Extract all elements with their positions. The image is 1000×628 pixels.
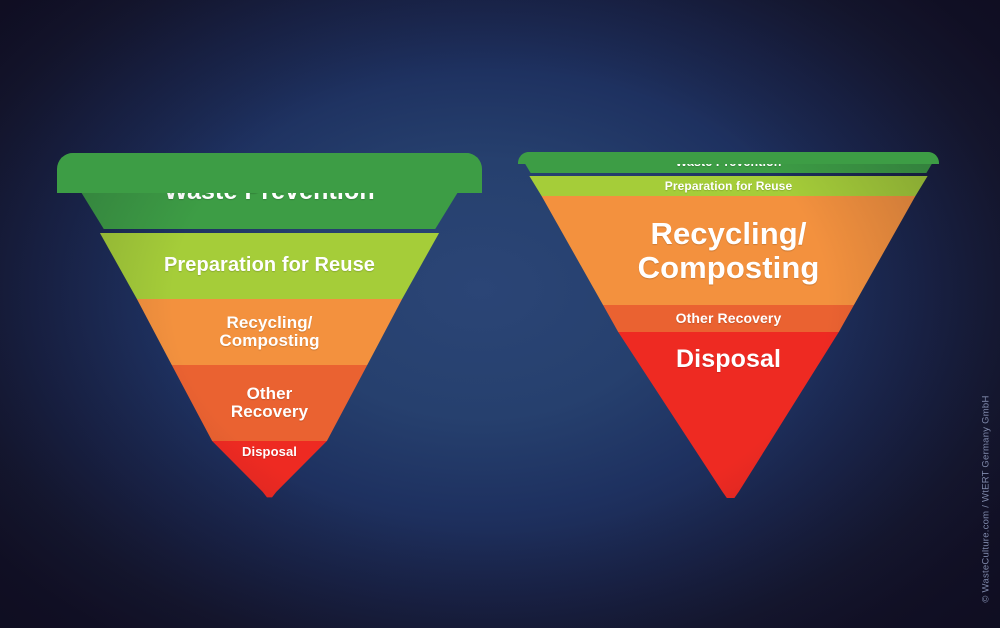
band-label-disposal: Disposal <box>242 445 297 459</box>
band-other-recovery[interactable]: Other Recovery <box>57 365 482 441</box>
diagram-canvas: Waste Prevention Preparation for Reuse R… <box>0 0 1000 628</box>
band-recycling-composting[interactable]: Recycling/ Composting <box>57 299 482 365</box>
band-preparation-for-reuse[interactable]: Preparation for Reuse <box>518 176 939 196</box>
band-label-other-recovery: Other Recovery <box>231 385 308 422</box>
band-recycling-composting[interactable]: Recycling/ Composting <box>518 196 939 305</box>
waste-prevention-rounded-cap <box>57 153 482 193</box>
credit-container: © WasteCulture.com / WtERT Germany GmbH <box>978 384 994 614</box>
band-disposal[interactable]: Disposal <box>57 441 482 503</box>
band-label-other-recovery: Other Recovery <box>676 311 782 326</box>
band-label-preparation-for-reuse: Preparation for Reuse <box>665 180 792 193</box>
copyright-credit: © WasteCulture.com / WtERT Germany GmbH <box>981 395 992 602</box>
band-label-preparation-for-reuse: Preparation for Reuse <box>164 255 375 277</box>
band-label-recycling-composting: Recycling/ Composting <box>219 314 319 351</box>
band-preparation-for-reuse[interactable]: Preparation for Reuse <box>57 233 482 299</box>
band-label-recycling-composting: Recycling/ Composting <box>638 217 820 284</box>
pyramid-actual-practice: Waste Prevention Preparation for Reuse R… <box>518 152 939 498</box>
pyramid-ideal-hierarchy: Waste Prevention Preparation for Reuse R… <box>57 153 482 503</box>
band-disposal[interactable]: Disposal <box>518 332 939 498</box>
band-label-disposal: Disposal <box>676 346 781 373</box>
waste-prevention-rounded-cap <box>518 152 939 164</box>
band-other-recovery[interactable]: Other Recovery <box>518 305 939 332</box>
